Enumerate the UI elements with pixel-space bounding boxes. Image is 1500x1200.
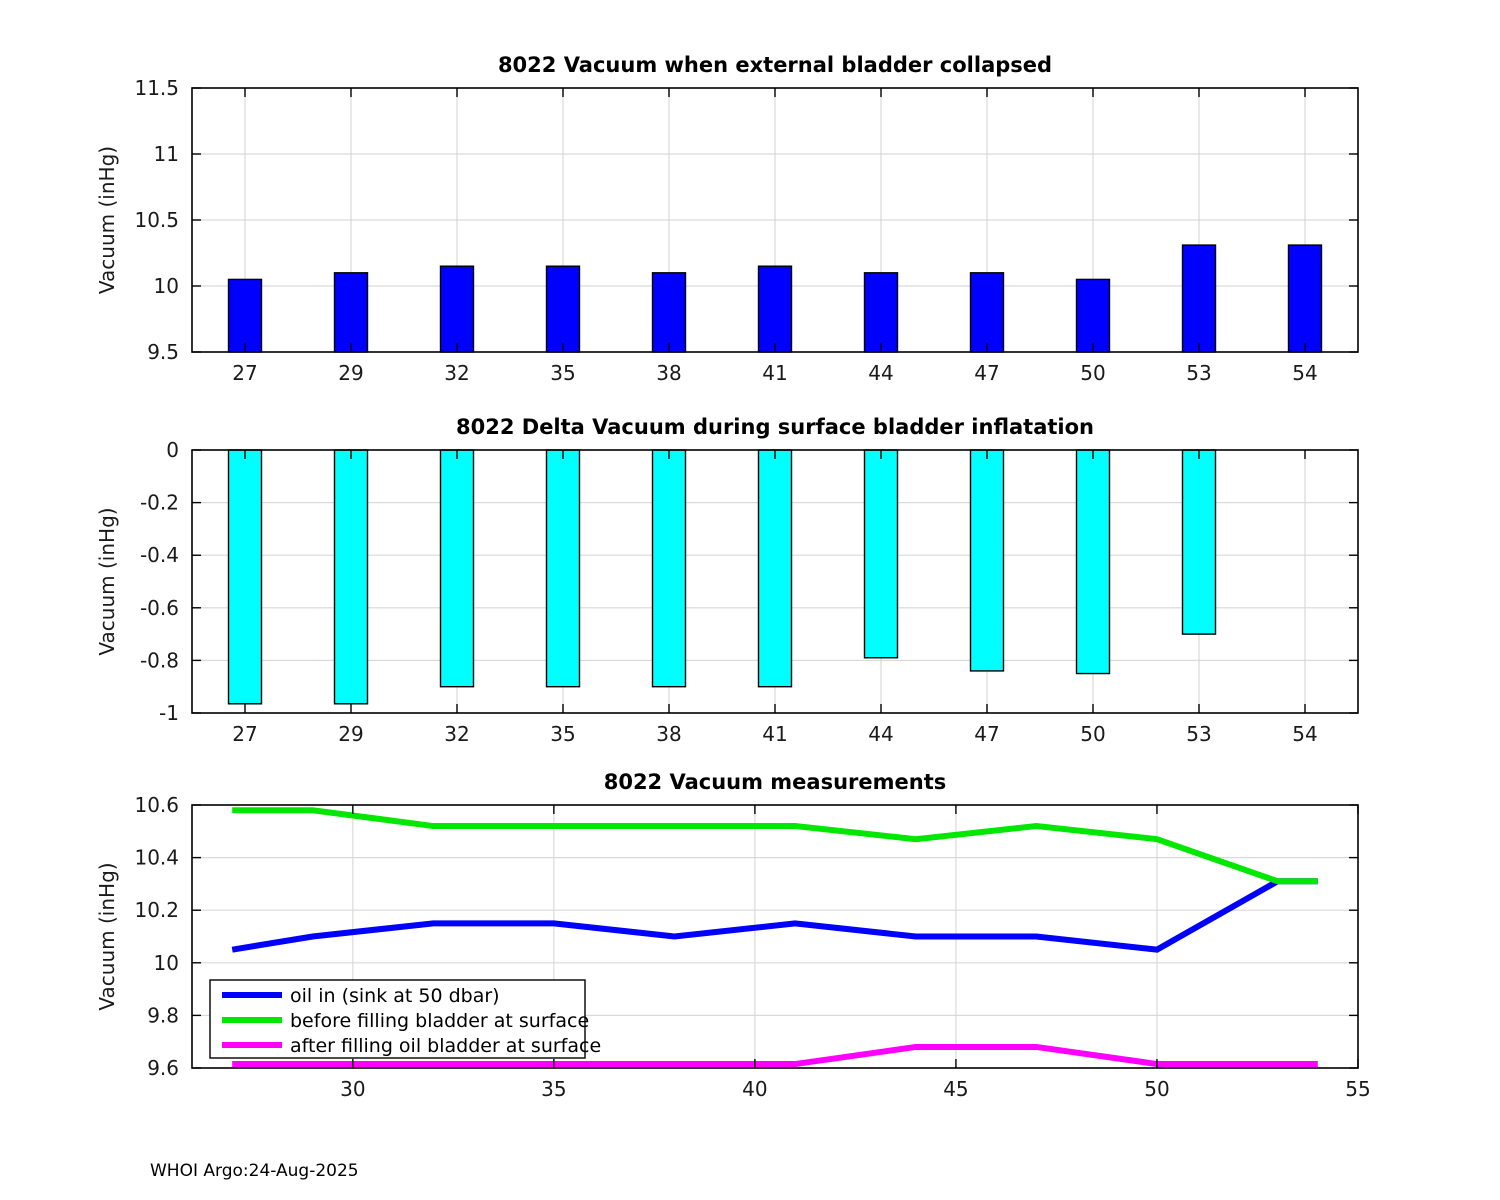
- x-tick-label-50: 50: [1080, 361, 1105, 385]
- y-tick-label: -1: [159, 701, 179, 725]
- bar-38: [653, 450, 686, 687]
- panel-2-ylabel: Vacuum (inHg): [95, 507, 119, 655]
- y-tick-label: 10.4: [134, 846, 179, 870]
- vacuum-figure-svg: 8022 Vacuum when external bladder collap…: [0, 0, 1500, 1200]
- panel-2-title: 8022 Delta Vacuum during surface bladder…: [456, 415, 1094, 439]
- y-tick-label: 10.5: [134, 208, 179, 232]
- y-tick-label: 9.8: [147, 1003, 179, 1027]
- bar-47: [971, 450, 1004, 671]
- x-tick-label-44: 44: [868, 722, 893, 746]
- y-tick-label: 9.6: [147, 1056, 179, 1080]
- panel-3-title: 8022 Vacuum measurements: [604, 770, 947, 794]
- y-tick-label: -0.4: [140, 543, 179, 567]
- x-tick-label-29: 29: [338, 361, 363, 385]
- x-tick-label-32: 32: [444, 722, 469, 746]
- y-tick-label: 10.6: [134, 793, 179, 817]
- bar-41: [759, 266, 792, 352]
- bar-27: [229, 450, 262, 704]
- legend-label-1: before filling bladder at surface: [290, 1010, 589, 1032]
- x-tick-label-55: 55: [1345, 1077, 1370, 1101]
- y-tick-label: 11: [154, 142, 179, 166]
- legend-label-0: oil in (sink at 50 dbar): [290, 985, 500, 1007]
- x-tick-label-50: 50: [1144, 1077, 1169, 1101]
- x-tick-label-41: 41: [762, 361, 787, 385]
- x-tick-label-35: 35: [550, 361, 575, 385]
- series-line-0: [232, 881, 1318, 949]
- x-tick-label-38: 38: [656, 722, 681, 746]
- x-tick-label-54: 54: [1292, 722, 1317, 746]
- y-tick-label: -0.8: [140, 648, 179, 672]
- x-tick-label-47: 47: [974, 361, 999, 385]
- legend: oil in (sink at 50 dbar)before filling b…: [210, 980, 601, 1058]
- x-tick-label-29: 29: [338, 722, 363, 746]
- bar-53: [1183, 245, 1216, 352]
- x-tick-label-40: 40: [742, 1077, 767, 1101]
- bar-35: [547, 266, 580, 352]
- x-tick-label-35: 35: [541, 1077, 566, 1101]
- x-tick-label-50: 50: [1080, 722, 1105, 746]
- bar-50: [1077, 450, 1110, 674]
- bar-29: [335, 273, 368, 352]
- x-tick-label-35: 35: [550, 722, 575, 746]
- x-tick-label-44: 44: [868, 361, 893, 385]
- footer-credit: WHOI Argo:24-Aug-2025: [150, 1161, 359, 1181]
- panel-1: 8022 Vacuum when external bladder collap…: [95, 53, 1358, 385]
- series-line-1: [232, 810, 1318, 881]
- y-tick-label: -0.6: [140, 596, 179, 620]
- y-tick-label: 11.5: [134, 76, 179, 100]
- y-tick-label: 10.2: [134, 898, 179, 922]
- bar-38: [653, 273, 686, 352]
- bar-44: [865, 450, 898, 658]
- bar-29: [335, 450, 368, 704]
- panel-1-ylabel: Vacuum (inHg): [95, 146, 119, 294]
- x-tick-label-32: 32: [444, 361, 469, 385]
- figure-canvas: 8022 Vacuum when external bladder collap…: [0, 0, 1500, 1200]
- bar-54: [1289, 245, 1322, 352]
- panel-2: 8022 Delta Vacuum during surface bladder…: [95, 415, 1358, 746]
- panel-1-title: 8022 Vacuum when external bladder collap…: [498, 53, 1052, 77]
- panel-3: 8022 Vacuum measurements9.69.81010.210.4…: [95, 770, 1371, 1101]
- bar-27: [229, 279, 262, 352]
- bar-32: [441, 450, 474, 687]
- panel-3-ylabel: Vacuum (inHg): [95, 862, 119, 1010]
- y-tick-label: 9.5: [147, 340, 179, 364]
- bar-47: [971, 273, 1004, 352]
- y-tick-label: -0.2: [140, 491, 179, 515]
- x-tick-label-27: 27: [232, 722, 257, 746]
- x-tick-label-53: 53: [1186, 722, 1211, 746]
- x-tick-label-45: 45: [943, 1077, 968, 1101]
- bar-32: [441, 266, 474, 352]
- bar-35: [547, 450, 580, 687]
- y-tick-label: 10: [154, 951, 179, 975]
- bar-53: [1183, 450, 1216, 634]
- y-tick-label: 0: [166, 438, 179, 462]
- bar-41: [759, 450, 792, 687]
- x-tick-label-38: 38: [656, 361, 681, 385]
- bar-44: [865, 273, 898, 352]
- x-tick-label-53: 53: [1186, 361, 1211, 385]
- x-tick-label-30: 30: [340, 1077, 365, 1101]
- x-tick-label-54: 54: [1292, 361, 1317, 385]
- bar-50: [1077, 279, 1110, 352]
- x-tick-label-47: 47: [974, 722, 999, 746]
- x-tick-label-41: 41: [762, 722, 787, 746]
- y-tick-label: 10: [154, 274, 179, 298]
- x-tick-label-27: 27: [232, 361, 257, 385]
- legend-label-2: after filling oil bladder at surface: [290, 1035, 601, 1057]
